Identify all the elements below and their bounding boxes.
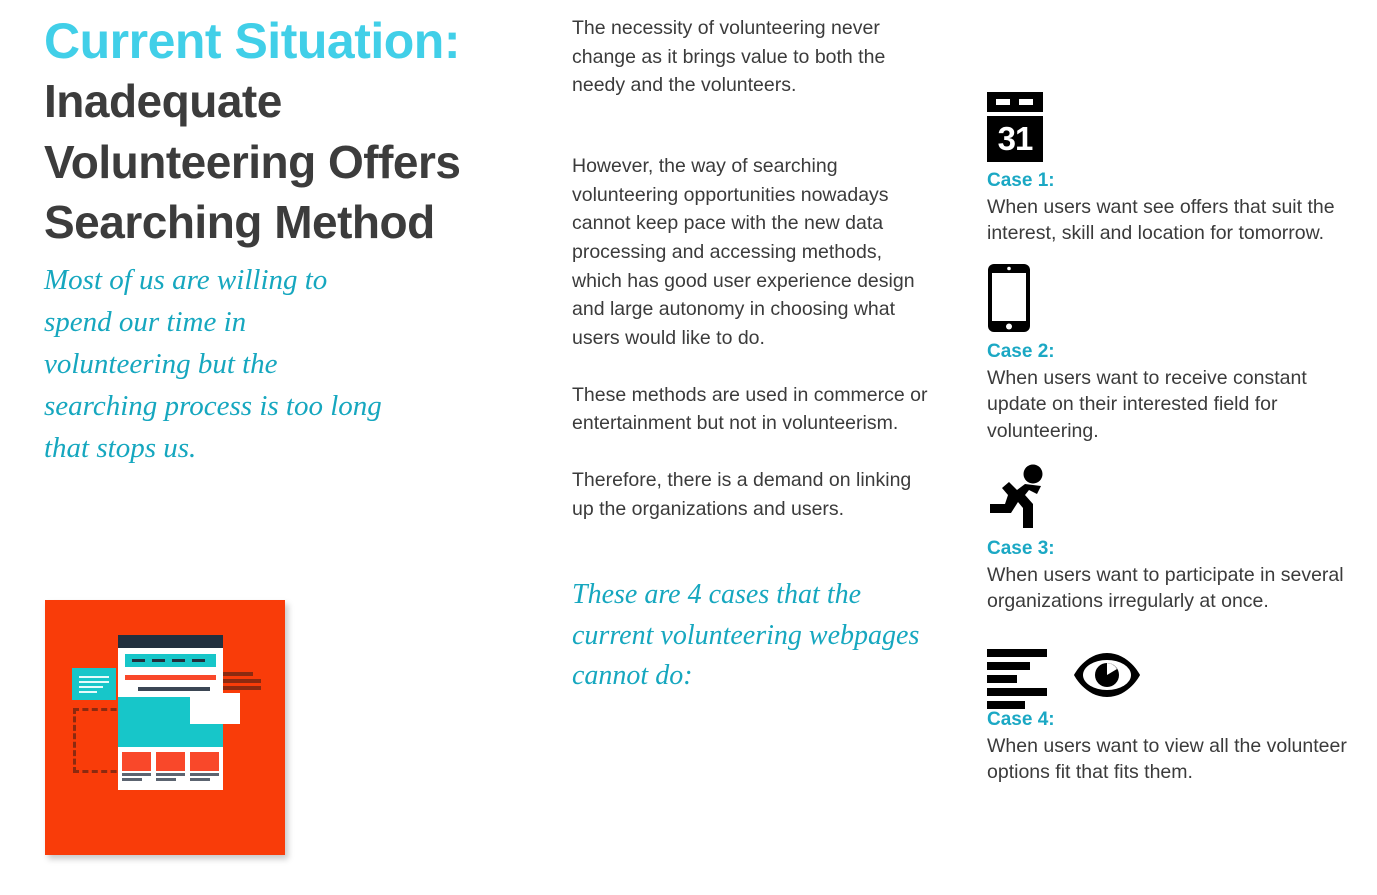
white-overlay-panel — [190, 693, 240, 724]
case-block: 31 Case 1: When users want see offers th… — [987, 90, 1352, 247]
subheadline-bar — [138, 687, 210, 691]
body-paragraph: The necessity of volunteering never chan… — [572, 14, 934, 100]
card-row — [122, 752, 219, 790]
smartphone-icon — [987, 263, 1031, 333]
case-icon-row — [987, 629, 1352, 701]
mockup-card — [156, 752, 185, 781]
mockup-card — [122, 752, 151, 781]
body-paragraph: Therefore, there is a demand on linking … — [572, 466, 934, 523]
case-label: Case 2: — [987, 341, 1352, 364]
case-block: Case 3: When users want to participate i… — [987, 458, 1352, 615]
case-icon-row — [987, 261, 1352, 333]
tooltip-card-icon — [72, 668, 116, 700]
left-column: Current Situation: Inadequate Volunteeri… — [44, 12, 534, 469]
middle-column: The necessity of volunteering never chan… — [572, 14, 934, 697]
case-description: When users want to view all the voluntee… — [987, 733, 1352, 786]
case-description: When users want see offers that suit the… — [987, 194, 1352, 247]
body-paragraph: However, the way of searching volunteeri… — [572, 152, 934, 353]
text-lines-icon — [987, 649, 1049, 701]
mockup-card — [190, 752, 219, 781]
case-label: Case 4: — [987, 709, 1352, 732]
calendar-icon: 31 — [987, 92, 1043, 162]
slide-root: Current Situation: Inadequate Volunteeri… — [0, 0, 1377, 895]
body-paragraph: These methods are used in commerce or en… — [572, 381, 934, 438]
case-block: Case 2: When users want to receive const… — [987, 261, 1352, 444]
page-subtitle: Most of us are willing to spend our time… — [44, 259, 394, 469]
browser-navbar — [125, 654, 216, 667]
cases-column: 31 Case 1: When users want see offers th… — [987, 90, 1352, 800]
case-description: When users want to receive constant upda… — [987, 365, 1352, 445]
page-title-main: Inadequate Volunteering Offers Searching… — [44, 71, 514, 253]
side-bars-icon — [223, 672, 261, 693]
case-icon-row — [987, 458, 1352, 530]
case-label: Case 3: — [987, 538, 1352, 561]
headline-bar — [125, 675, 216, 680]
case-label: Case 1: — [987, 170, 1352, 193]
calendar-day-label: 31 — [987, 116, 1043, 162]
case-description: When users want to participate in severa… — [987, 562, 1352, 615]
page-title-accent: Current Situation: — [44, 12, 534, 71]
case-icon-row: 31 — [987, 90, 1352, 162]
eye-icon — [1071, 649, 1143, 701]
browser-titlebar — [118, 635, 223, 648]
running-person-icon — [987, 464, 1049, 530]
website-search-illustration — [45, 600, 285, 855]
case-block: Case 4: When users want to view all the … — [987, 629, 1352, 786]
illustration-canvas — [45, 600, 285, 855]
cases-intro-text: These are 4 cases that the current volun… — [572, 575, 934, 697]
